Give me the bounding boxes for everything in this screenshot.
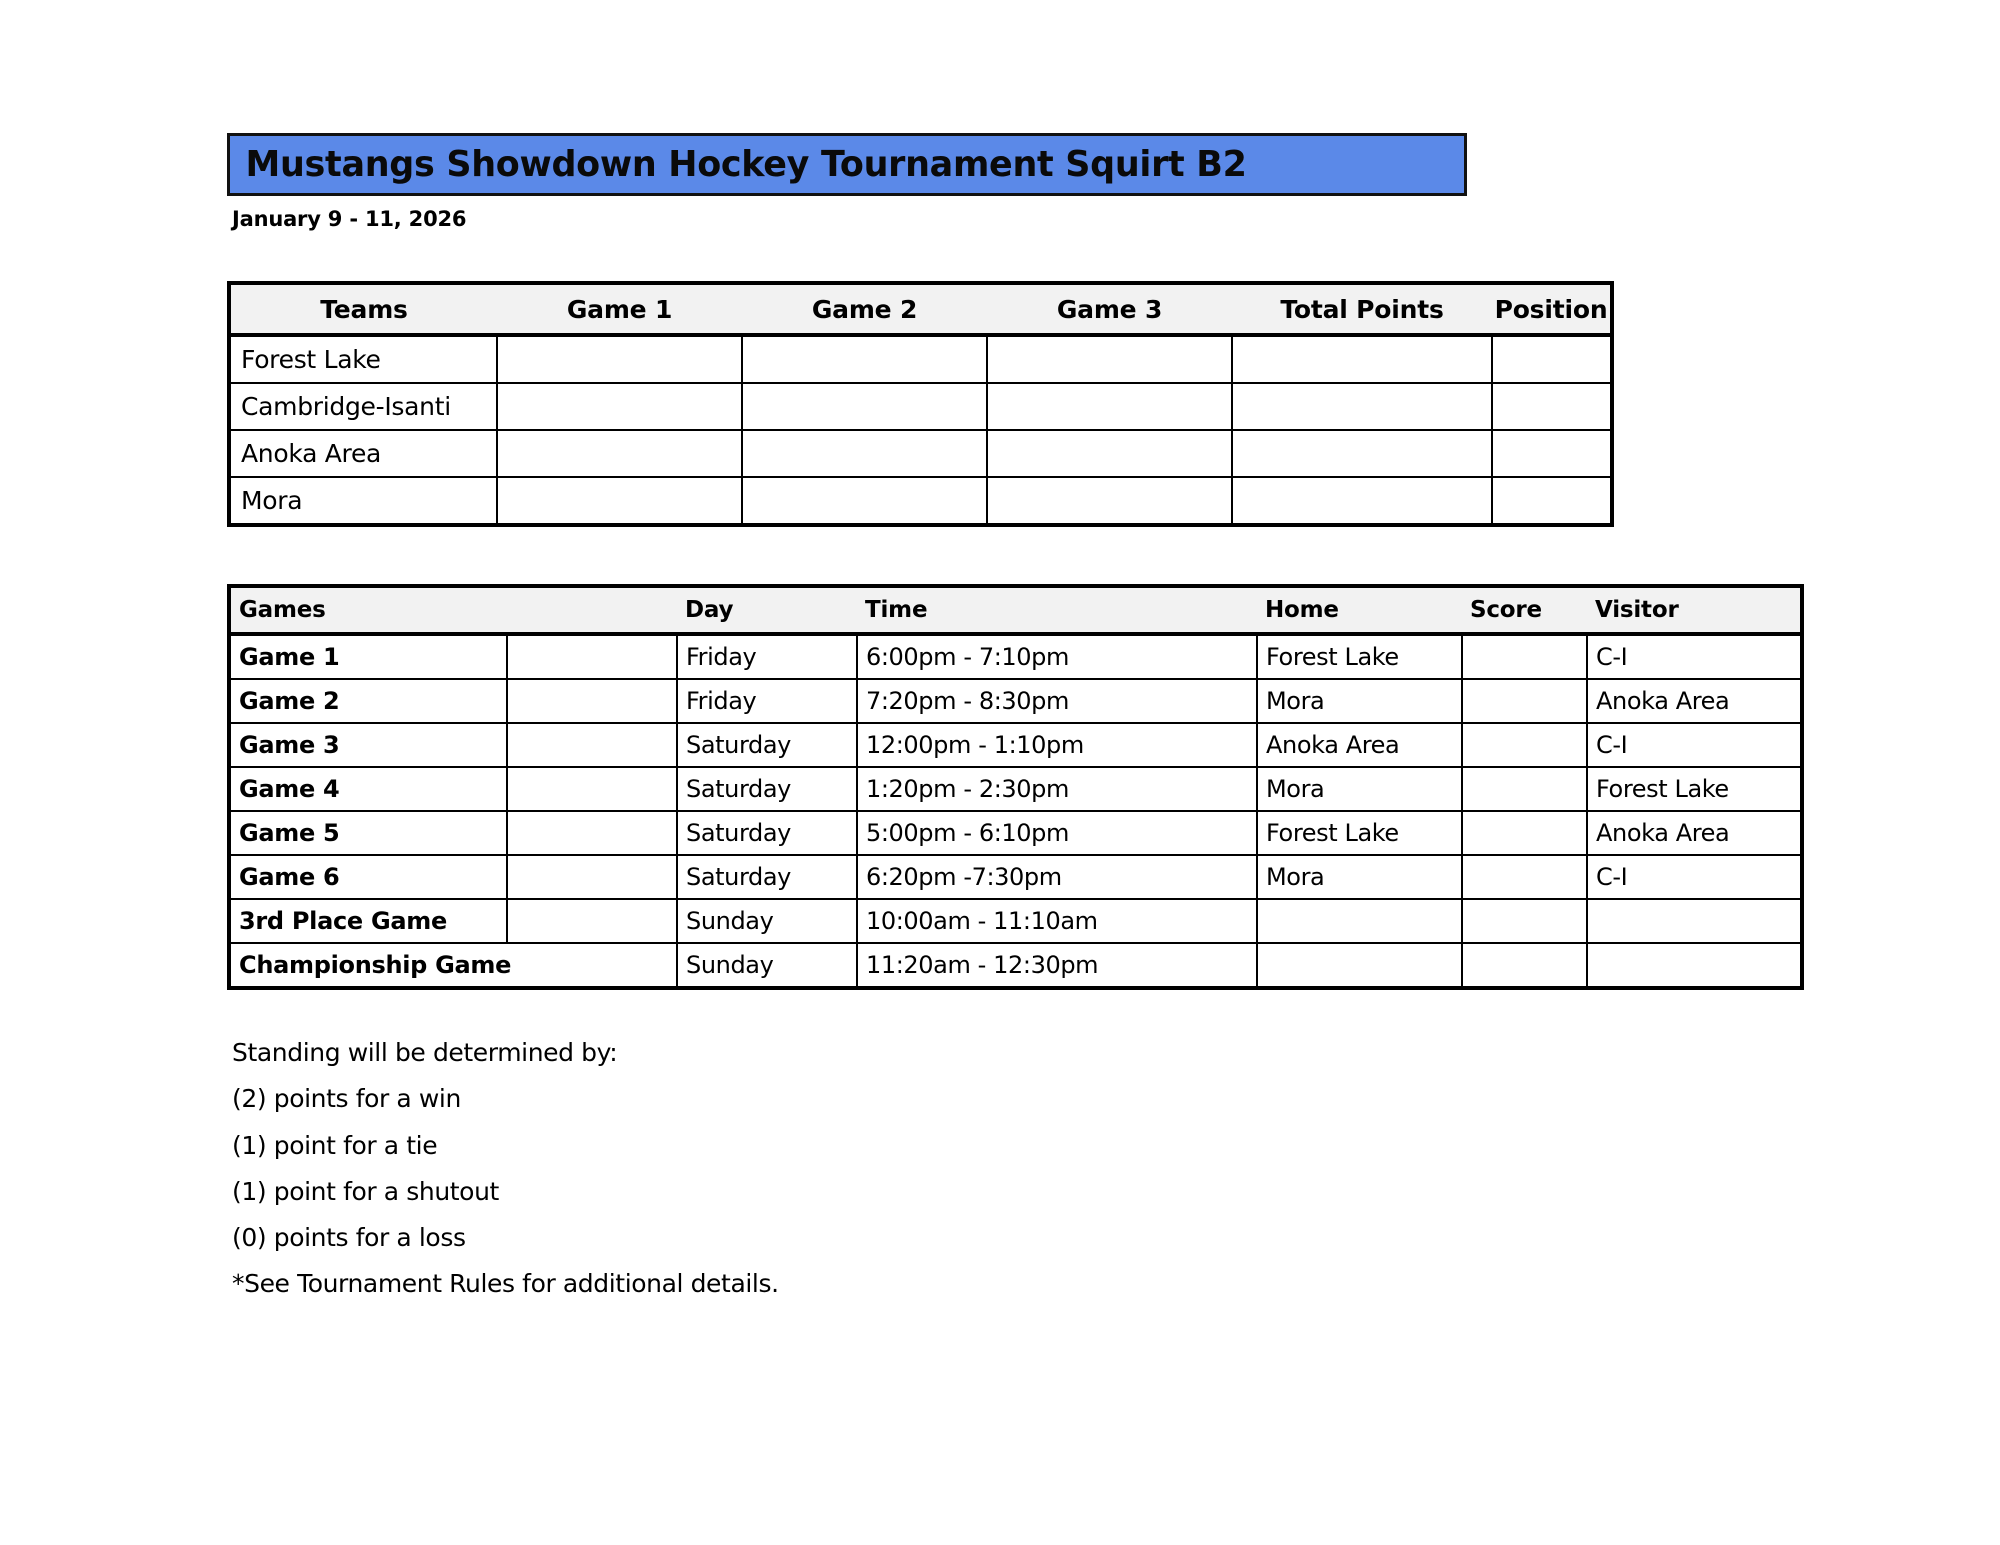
table-row: Game 5 Saturday 5:00pm - 6:10pm Forest L… [229,811,1802,855]
standings-game1-cell[interactable] [497,383,742,430]
schedule-score-cell[interactable] [1462,634,1587,679]
schedule-col-time: Time [857,586,1257,634]
schedule-col-day: Day [677,586,857,634]
schedule-spacer-cell [507,679,677,723]
schedule-time-cell: 10:00am - 11:10am [857,899,1257,943]
schedule-day-cell: Saturday [677,723,857,767]
tournament-dates: January 9 - 11, 2026 [232,207,466,231]
schedule-table-wrapper: Games Day Time Home Score Visitor Game 1… [227,584,1800,990]
schedule-visitor-cell: Anoka Area [1587,679,1802,723]
notes-footnote: *See Tournament Rules for additional det… [232,1271,1132,1297]
schedule-game-label: Game 2 [229,679,507,723]
standings-team-name: Cambridge-Isanti [229,383,497,430]
schedule-game-label: Game 6 [229,855,507,899]
schedule-score-cell[interactable] [1462,767,1587,811]
standings-total-points-cell[interactable] [1232,430,1492,477]
schedule-col-spacer [507,586,677,634]
standings-game2-cell[interactable] [742,477,987,525]
schedule-game-label: Game 5 [229,811,507,855]
schedule-col-games: Games [229,586,507,634]
schedule-time-cell: 11:20am - 12:30pm [857,943,1257,988]
standings-team-name: Forest Lake [229,335,497,383]
schedule-score-cell[interactable] [1462,855,1587,899]
schedule-spacer-cell [507,855,677,899]
schedule-col-home: Home [1257,586,1462,634]
standings-game3-cell[interactable] [987,383,1232,430]
schedule-score-cell[interactable] [1462,811,1587,855]
table-row: Championship Game Sunday 11:20am - 12:30… [229,943,1802,988]
schedule-spacer-cell [507,723,677,767]
standings-position-cell[interactable] [1492,335,1612,383]
standings-col-game2: Game 2 [742,283,987,335]
schedule-game-label: Game 4 [229,767,507,811]
schedule-home-cell: Forest Lake [1257,811,1462,855]
schedule-day-cell: Sunday [677,899,857,943]
schedule-visitor-cell: Anoka Area [1587,811,1802,855]
schedule-day-cell: Friday [677,679,857,723]
standings-col-game1: Game 1 [497,283,742,335]
schedule-table: Games Day Time Home Score Visitor Game 1… [227,584,1804,990]
schedule-home-cell: Mora [1257,767,1462,811]
schedule-time-cell: 6:20pm -7:30pm [857,855,1257,899]
schedule-game-label: Game 1 [229,634,507,679]
schedule-score-cell[interactable] [1462,943,1587,988]
schedule-spacer-cell [507,899,677,943]
standings-total-points-cell[interactable] [1232,335,1492,383]
table-row: 3rd Place Game Sunday 10:00am - 11:10am [229,899,1802,943]
standings-game3-cell[interactable] [987,477,1232,525]
standings-game1-cell[interactable] [497,335,742,383]
schedule-visitor-cell[interactable] [1587,943,1802,988]
schedule-day-cell: Saturday [677,855,857,899]
schedule-game-label: Game 3 [229,723,507,767]
notes-line-tie: (1) point for a tie [232,1133,1132,1159]
table-row: Game 6 Saturday 6:20pm -7:30pm Mora C-I [229,855,1802,899]
schedule-col-visitor: Visitor [1587,586,1802,634]
standings-table: Teams Game 1 Game 2 Game 3 Total Points … [227,281,1614,527]
schedule-game-label: 3rd Place Game [229,899,507,943]
schedule-score-cell[interactable] [1462,679,1587,723]
standings-game1-cell[interactable] [497,477,742,525]
schedule-header-row: Games Day Time Home Score Visitor [229,586,1802,634]
schedule-home-cell: Anoka Area [1257,723,1462,767]
schedule-time-cell: 1:20pm - 2:30pm [857,767,1257,811]
notes-line-shutout: (1) point for a shutout [232,1179,1132,1205]
schedule-time-cell: 7:20pm - 8:30pm [857,679,1257,723]
table-row: Game 2 Friday 7:20pm - 8:30pm Mora Anoka… [229,679,1802,723]
schedule-visitor-cell: C-I [1587,634,1802,679]
schedule-game-label: Championship Game [229,943,677,988]
schedule-home-cell: Mora [1257,679,1462,723]
schedule-day-cell: Saturday [677,811,857,855]
standings-game3-cell[interactable] [987,430,1232,477]
standings-game2-cell[interactable] [742,430,987,477]
table-row: Game 1 Friday 6:00pm - 7:10pm Forest Lak… [229,634,1802,679]
standings-rules-notes: Standing will be determined by: (2) poin… [232,1040,1132,1318]
table-row: Cambridge-Isanti [229,383,1612,430]
standings-total-points-cell[interactable] [1232,383,1492,430]
notes-line-win: (2) points for a win [232,1086,1132,1112]
schedule-col-score: Score [1462,586,1587,634]
tournament-title-banner: Mustangs Showdown Hockey Tournament Squi… [227,133,1467,196]
schedule-spacer-cell [507,811,677,855]
standings-game1-cell[interactable] [497,430,742,477]
standings-total-points-cell[interactable] [1232,477,1492,525]
schedule-time-cell: 5:00pm - 6:10pm [857,811,1257,855]
standings-game2-cell[interactable] [742,335,987,383]
schedule-spacer-cell [507,634,677,679]
schedule-visitor-cell: Forest Lake [1587,767,1802,811]
table-row: Game 4 Saturday 1:20pm - 2:30pm Mora For… [229,767,1802,811]
standings-header-row: Teams Game 1 Game 2 Game 3 Total Points … [229,283,1612,335]
notes-heading: Standing will be determined by: [232,1040,1132,1066]
standings-game3-cell[interactable] [987,335,1232,383]
table-row: Anoka Area [229,430,1612,477]
schedule-score-cell[interactable] [1462,899,1587,943]
standings-position-cell[interactable] [1492,383,1612,430]
schedule-time-cell: 6:00pm - 7:10pm [857,634,1257,679]
schedule-time-cell: 12:00pm - 1:10pm [857,723,1257,767]
schedule-visitor-cell: C-I [1587,855,1802,899]
standings-col-position: Position [1492,283,1612,335]
standings-team-name: Anoka Area [229,430,497,477]
table-row: Game 3 Saturday 12:00pm - 1:10pm Anoka A… [229,723,1802,767]
notes-line-loss: (0) points for a loss [232,1225,1132,1251]
schedule-visitor-cell[interactable] [1587,899,1802,943]
schedule-home-cell: Forest Lake [1257,634,1462,679]
standings-game2-cell[interactable] [742,383,987,430]
schedule-home-cell: Mora [1257,855,1462,899]
schedule-day-cell: Sunday [677,943,857,988]
standings-position-cell[interactable] [1492,430,1612,477]
standings-col-teams: Teams [229,283,497,335]
standings-team-name: Mora [229,477,497,525]
table-row: Forest Lake [229,335,1612,383]
schedule-visitor-cell: C-I [1587,723,1802,767]
document-page: Mustangs Showdown Hockey Tournament Squi… [0,0,2000,1545]
schedule-home-cell[interactable] [1257,899,1462,943]
standings-table-wrapper: Teams Game 1 Game 2 Game 3 Total Points … [227,281,1610,527]
standings-col-game3: Game 3 [987,283,1232,335]
schedule-spacer-cell [507,767,677,811]
schedule-score-cell[interactable] [1462,723,1587,767]
page-title: Mustangs Showdown Hockey Tournament Squi… [230,144,1247,185]
schedule-day-cell: Friday [677,634,857,679]
schedule-home-cell[interactable] [1257,943,1462,988]
schedule-day-cell: Saturday [677,767,857,811]
standings-col-total-points: Total Points [1232,283,1492,335]
table-row: Mora [229,477,1612,525]
standings-position-cell[interactable] [1492,477,1612,525]
